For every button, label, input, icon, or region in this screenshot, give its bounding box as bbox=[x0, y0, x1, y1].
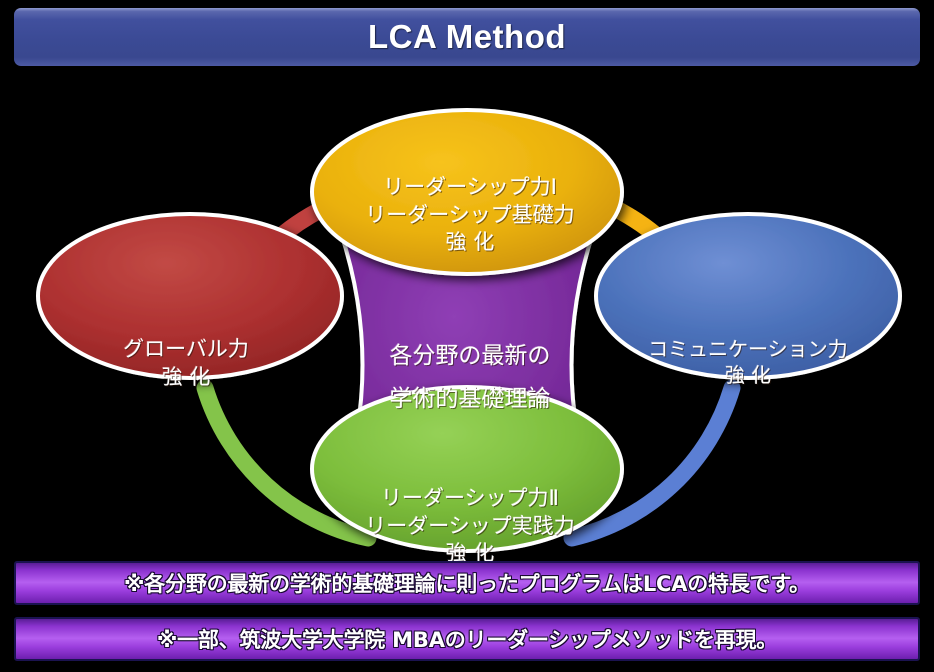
node-top-shape bbox=[312, 110, 622, 274]
banner-lca-feature: ※各分野の最新の学術的基礎理論に則ったプログラムはLCAの特長です。 bbox=[14, 561, 920, 605]
banner-lca-feature-text: ※各分野の最新の学術的基礎理論に則ったプログラムはLCAの特長です。 bbox=[124, 568, 810, 598]
node-left-shape bbox=[38, 214, 342, 378]
slide-canvas: LCA Method bbox=[0, 0, 934, 672]
header-bar: LCA Method bbox=[14, 8, 920, 66]
node-bottom-shape bbox=[312, 387, 622, 551]
banner-tsukuba-mba-text: ※一部、筑波大学大学院 MBAのリーダーシップメソッドを再現。 bbox=[157, 624, 777, 654]
lca-method-diagram: リーダーシップ力Ⅰ リーダーシップ基礎力 強 化 グローバル力 強 化 コミュニ… bbox=[0, 70, 934, 555]
node-right-shape bbox=[596, 214, 900, 378]
banner-tsukuba-mba: ※一部、筑波大学大学院 MBAのリーダーシップメソッドを再現。 bbox=[14, 617, 920, 661]
page-title: LCA Method bbox=[368, 18, 566, 56]
